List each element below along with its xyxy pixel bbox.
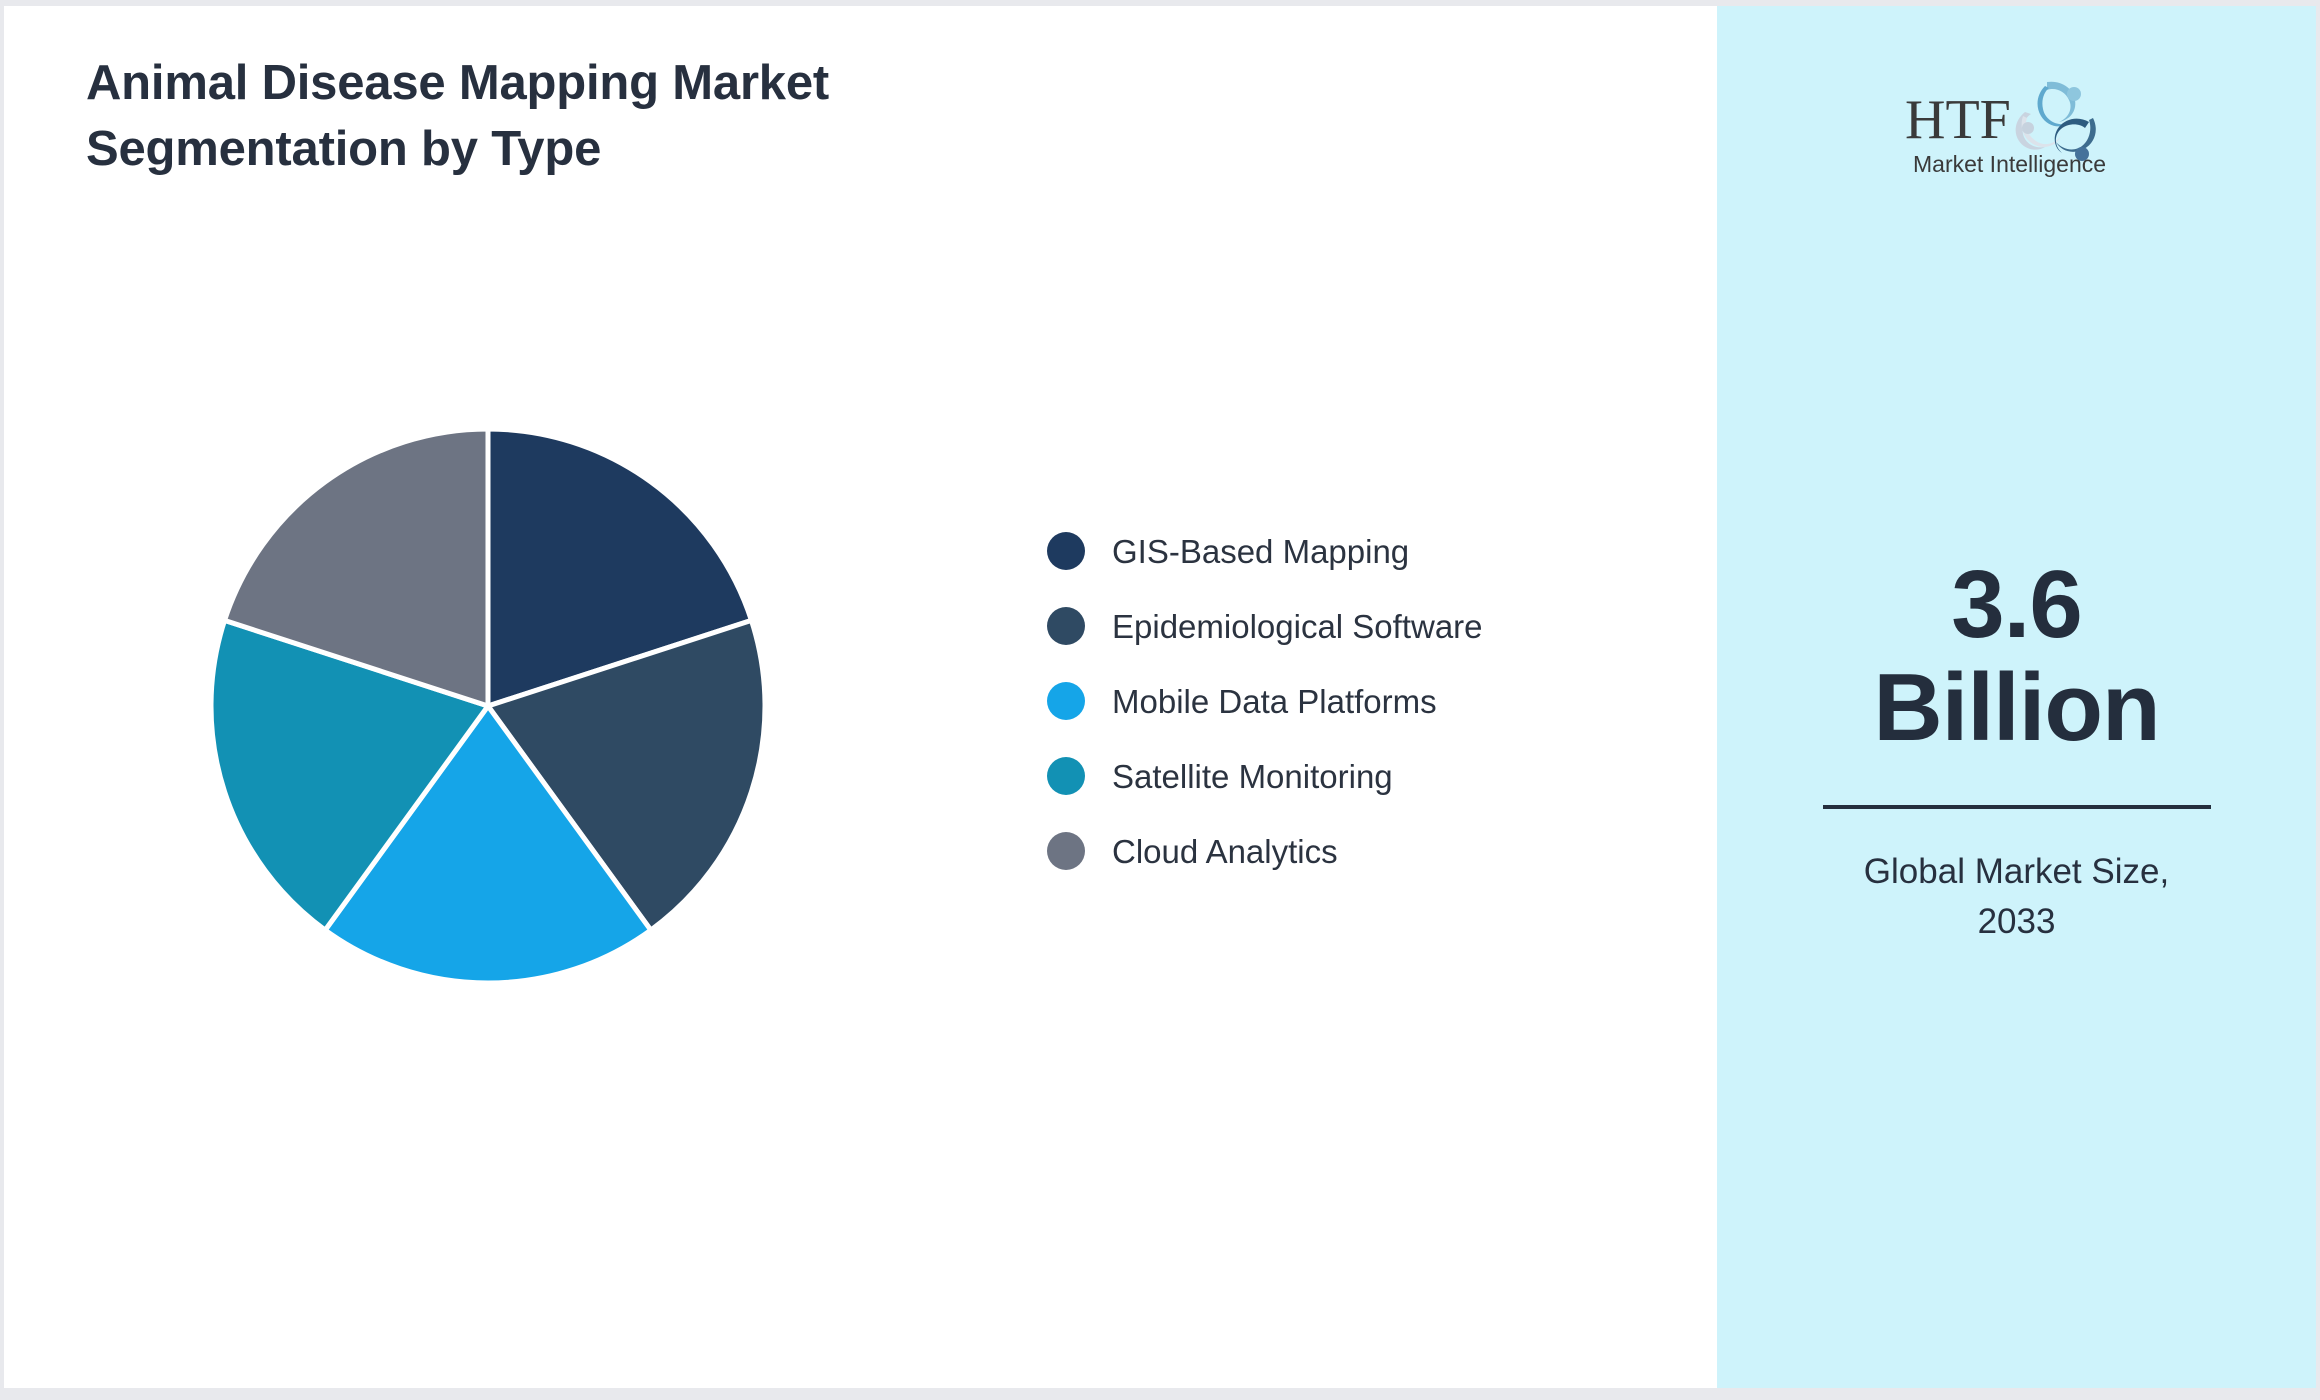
stat-sidebar: HTF Market Intelligence 3.6 Billion Glob… (1717, 6, 2316, 1388)
chart-legend: GIS-Based Mapping Epidemiological Softwa… (1047, 527, 1483, 875)
logo-wordmark: HTF (1905, 89, 2011, 151)
legend-swatch-icon-2 (1047, 682, 1085, 720)
legend-label-2: Mobile Data Platforms (1112, 685, 1437, 718)
legend-swatch-icon-0 (1047, 532, 1085, 570)
pie-chart (208, 426, 768, 986)
market-size-stat: 3.6 Billion Global Market Size, 2033 (1807, 554, 2227, 947)
legend-item-gis-based-mapping[interactable]: GIS-Based Mapping (1047, 527, 1483, 575)
stat-value-line-1: 3.6 (1807, 554, 2227, 657)
legend-item-satellite-monitoring[interactable]: Satellite Monitoring (1047, 752, 1483, 800)
infographic-card: Animal Disease Mapping Market Segmentati… (4, 6, 2316, 1388)
legend-swatch-icon-4 (1047, 832, 1085, 870)
page-title-line-2: Segmentation by Type (86, 117, 1086, 183)
page-title-line-1: Animal Disease Mapping Market (86, 51, 1086, 117)
pie-chart-svg (208, 426, 768, 986)
pie-slice-group (211, 429, 765, 983)
stat-divider (1823, 805, 2211, 809)
logo-mark-icon (2015, 82, 2095, 161)
legend-label-3: Satellite Monitoring (1112, 760, 1393, 793)
legend-label-0: GIS-Based Mapping (1112, 535, 1409, 568)
logo-icon: HTF Market Intelligence (1897, 68, 2137, 184)
htf-market-intelligence-logo: HTF Market Intelligence (1897, 68, 2137, 184)
legend-swatch-icon-1 (1047, 607, 1085, 645)
logo-tagline: Market Intelligence (1913, 151, 2106, 177)
legend-label-4: Cloud Analytics (1112, 835, 1338, 868)
stat-caption: Global Market Size, 2033 (1807, 847, 2227, 946)
page-title: Animal Disease Mapping Market Segmentati… (86, 51, 1086, 182)
legend-item-cloud-analytics[interactable]: Cloud Analytics (1047, 827, 1483, 875)
legend-swatch-icon-3 (1047, 757, 1085, 795)
stat-value-line-2: Billion (1807, 657, 2227, 760)
legend-label-1: Epidemiological Software (1112, 610, 1483, 643)
chart-pane: Animal Disease Mapping Market Segmentati… (4, 6, 1717, 1388)
legend-item-epidemiological-software[interactable]: Epidemiological Software (1047, 602, 1483, 650)
legend-item-mobile-data-platforms[interactable]: Mobile Data Platforms (1047, 677, 1483, 725)
stat-caption-line-1: Global Market Size, (1807, 847, 2227, 897)
stat-caption-line-2: 2033 (1807, 897, 2227, 947)
